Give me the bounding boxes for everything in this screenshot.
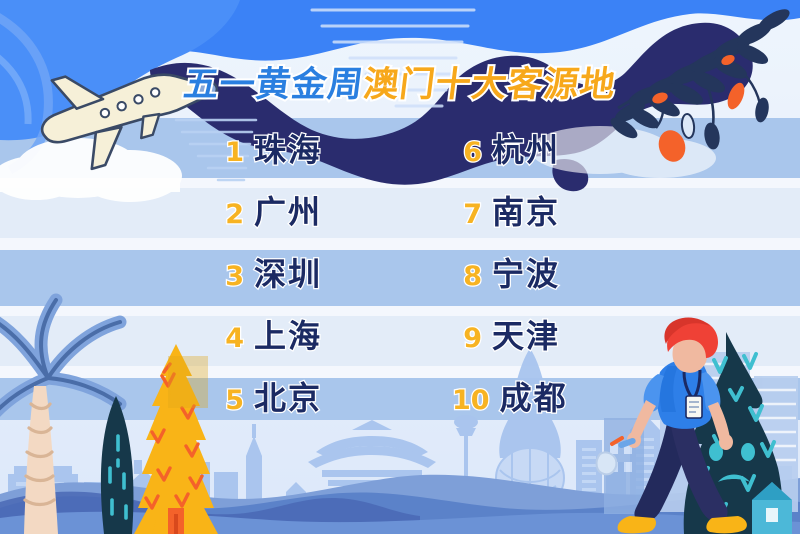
city-name: 广州 bbox=[254, 187, 322, 233]
rank-item-9[interactable]: 9 天津 bbox=[452, 311, 560, 357]
infographic-poster: 五一黄金周澳门十大客源地 bbox=[0, 0, 800, 534]
city-name: 成都 bbox=[500, 373, 568, 419]
rank-item-8[interactable]: 8 宁波 bbox=[452, 249, 560, 295]
city-name: 南京 bbox=[492, 187, 560, 233]
table-row: 3 深圳 8 宁波 bbox=[0, 242, 800, 302]
rank-number: 6 bbox=[452, 137, 482, 168]
rank-number: 7 bbox=[452, 199, 482, 230]
rank-item-5[interactable]: 5 北京 bbox=[214, 373, 322, 419]
city-name: 上海 bbox=[254, 311, 322, 357]
rank-number: 5 bbox=[214, 385, 244, 416]
rank-number: 4 bbox=[214, 323, 244, 354]
rank-item-4[interactable]: 4 上海 bbox=[214, 311, 322, 357]
rank-item-10[interactable]: 10 成都 bbox=[452, 373, 568, 419]
rank-item-3[interactable]: 3 深圳 bbox=[214, 249, 322, 295]
city-name: 天津 bbox=[492, 311, 560, 357]
table-row: 4 上海 9 天津 bbox=[0, 304, 800, 364]
rank-item-1[interactable]: 1 珠海 bbox=[214, 125, 322, 171]
city-name: 宁波 bbox=[492, 249, 560, 295]
rank-item-2[interactable]: 2 广州 bbox=[214, 187, 322, 233]
rank-number: 2 bbox=[214, 199, 244, 230]
rank-item-7[interactable]: 7 南京 bbox=[452, 187, 560, 233]
rank-number: 9 bbox=[452, 323, 482, 354]
table-row: 2 广州 7 南京 bbox=[0, 180, 800, 240]
rank-number: 8 bbox=[452, 261, 482, 292]
table-row: 5 北京 10 成都 bbox=[0, 366, 800, 426]
rank-number: 10 bbox=[452, 385, 490, 416]
city-name: 北京 bbox=[254, 373, 322, 419]
city-name: 杭州 bbox=[492, 125, 560, 171]
ranking-list: 1 珠海 6 杭州 2 广州 7 南京 3 深圳 8 bbox=[0, 118, 800, 420]
rank-number: 1 bbox=[214, 137, 244, 168]
rank-item-6[interactable]: 6 杭州 bbox=[452, 125, 560, 171]
city-name: 珠海 bbox=[254, 125, 322, 171]
rank-number: 3 bbox=[214, 261, 244, 292]
table-row: 1 珠海 6 杭州 bbox=[0, 118, 800, 178]
city-name: 深圳 bbox=[254, 249, 322, 295]
